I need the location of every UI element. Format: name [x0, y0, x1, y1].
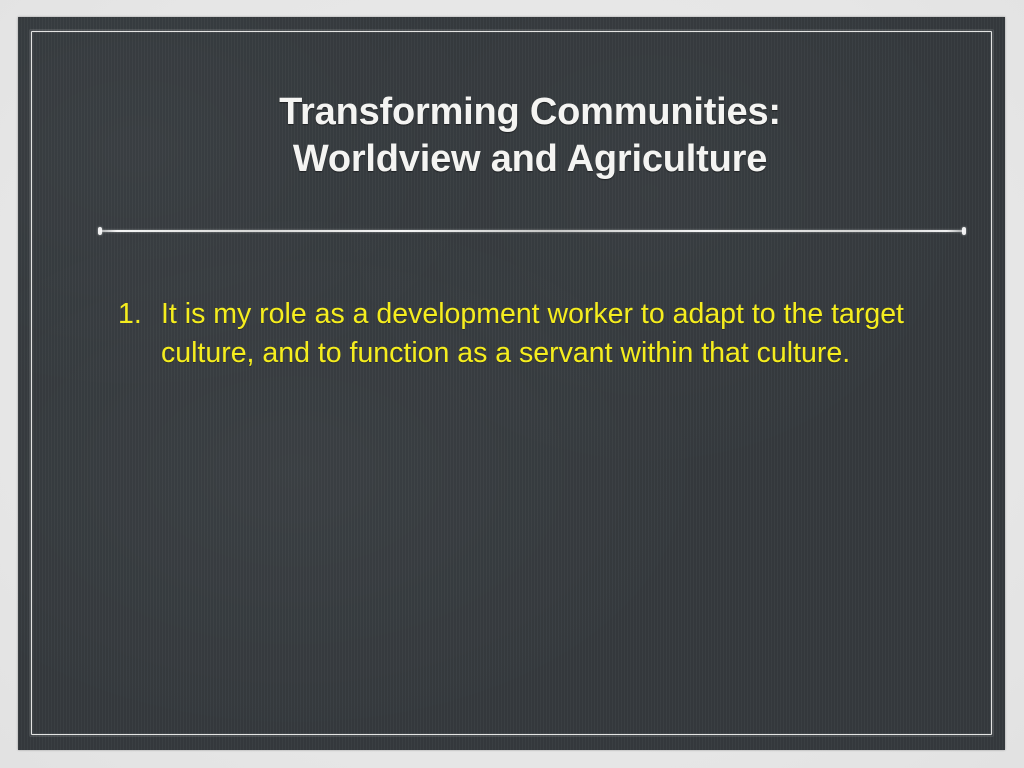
title-line-2: Worldview and Agriculture	[78, 136, 982, 183]
chalkboard-panel: Transforming Communities: Worldview and …	[18, 17, 1005, 750]
list-item: 1. It is my role as a development worker…	[118, 295, 928, 373]
list-item-marker: 1.	[118, 295, 161, 334]
list-item-text: It is my role as a development worker to…	[161, 295, 909, 373]
divider-rule	[100, 230, 964, 232]
divider-cap-right	[962, 227, 966, 235]
page-title: Transforming Communities: Worldview and …	[78, 89, 982, 183]
body-content: 1. It is my role as a development worker…	[118, 295, 928, 373]
title-divider	[98, 225, 966, 237]
title-line-1: Transforming Communities:	[78, 89, 982, 136]
slide-canvas: Transforming Communities: Worldview and …	[0, 0, 1024, 768]
